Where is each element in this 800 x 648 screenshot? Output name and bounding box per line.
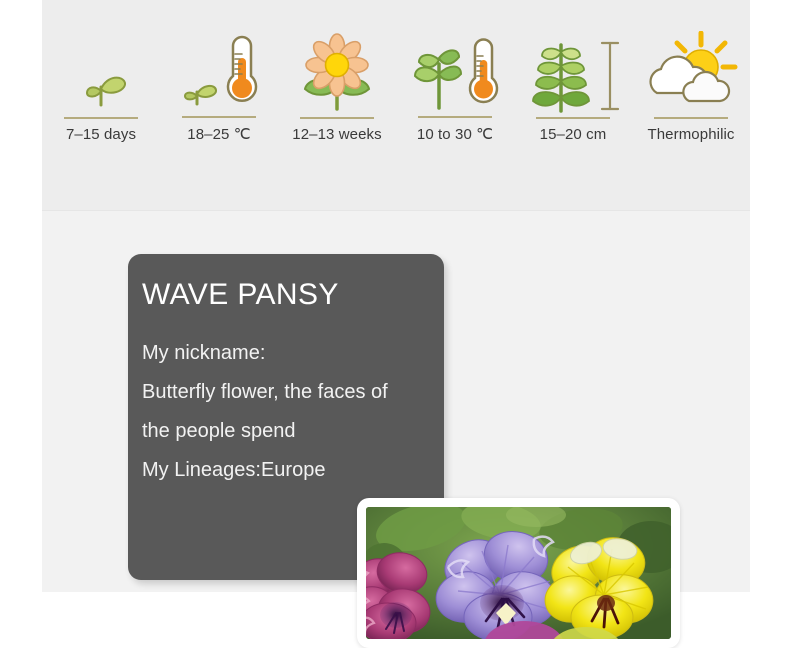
pansy-photo xyxy=(366,507,671,639)
spec-label-growing-temp: 10 to 30 ℃ xyxy=(417,125,493,143)
pansy-photo-frame xyxy=(357,498,680,648)
spec-item-bloom-time: 12–13 weeks xyxy=(281,31,393,143)
info-card-line-nickname-value-2: the people spend xyxy=(142,412,444,451)
sun-cloud-icon xyxy=(635,31,747,113)
spec-label-germination-temp: 18–25 ℃ xyxy=(187,125,250,143)
info-card-line-nickname-value-1: Butterfly flower, the faces of xyxy=(142,373,444,412)
plant-height-icon xyxy=(517,31,629,113)
spec-label-bloom-time: 12–13 weeks xyxy=(292,126,382,143)
spec-rule xyxy=(654,117,728,119)
plant-thermometer-icon xyxy=(399,30,511,112)
spec-item-climate: Thermophilic xyxy=(635,31,747,143)
spec-rule xyxy=(300,117,374,119)
spec-item-growing-temp: 10 to 30 ℃ xyxy=(399,30,511,143)
spec-icon-row: 7–15 days xyxy=(42,30,750,143)
spec-rule xyxy=(418,116,492,118)
flower-icon xyxy=(281,31,393,113)
spec-item-germination-temp: 18–25 ℃ xyxy=(163,30,275,143)
content-column: 7–15 days xyxy=(42,0,750,592)
spec-label-germination: 7–15 days xyxy=(66,126,136,143)
info-card-line-nickname-label: My nickname: xyxy=(142,334,444,373)
spec-band: 7–15 days xyxy=(42,0,750,211)
lower-section: WAVE PANSY My nickname: Butterfly flower… xyxy=(42,211,750,592)
spec-rule xyxy=(182,116,256,118)
spec-item-height: 15–20 cm xyxy=(517,31,629,143)
spec-label-height: 15–20 cm xyxy=(540,126,607,143)
sprout-icon xyxy=(45,31,157,113)
sprout-thermometer-icon xyxy=(163,30,275,112)
spec-label-climate: Thermophilic xyxy=(647,126,734,143)
spec-item-germination: 7–15 days xyxy=(45,31,157,143)
spec-rule xyxy=(64,117,138,119)
spec-rule xyxy=(536,117,610,119)
info-card-title: WAVE PANSY xyxy=(142,280,444,310)
info-card-line-lineage: My Lineages:Europe xyxy=(142,451,444,490)
